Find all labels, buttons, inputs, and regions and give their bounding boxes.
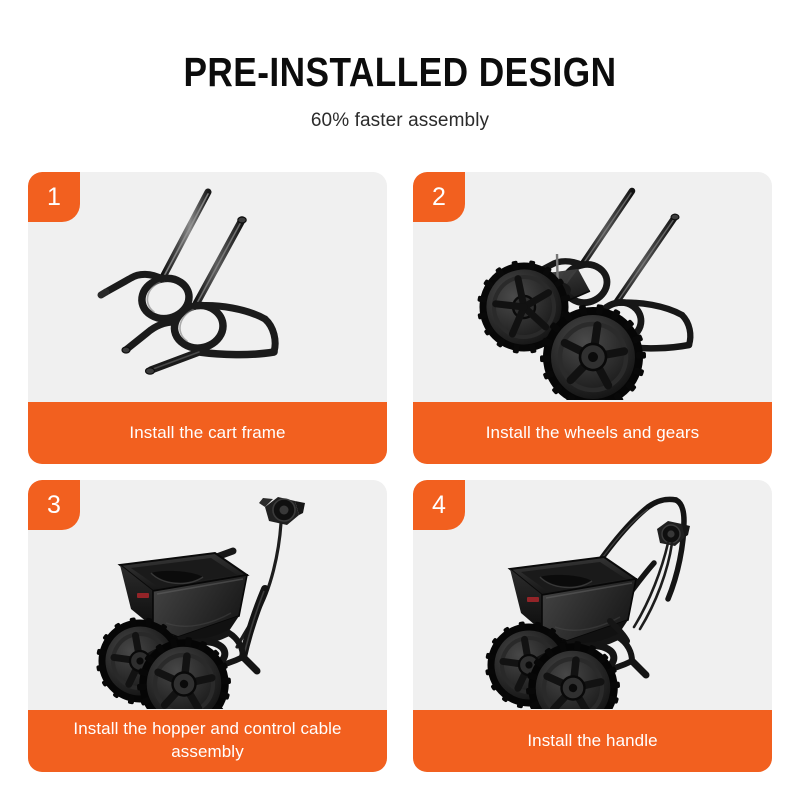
step-number-badge-1: 1 (28, 172, 80, 222)
page-subtitle: 60% faster assembly (0, 110, 800, 132)
step-caption-3: Install the hopper and control cable ass… (28, 710, 387, 772)
complete-spreader-illustration (413, 480, 772, 710)
step-card-1[interactable]: 1 (28, 172, 387, 464)
step-number-badge-2: 2 (413, 172, 465, 222)
steps-grid: 1 (28, 172, 772, 772)
hopper-and-cable-illustration (28, 480, 387, 710)
step-number-badge-3: 3 (28, 480, 80, 530)
step-number-badge-4: 4 (413, 480, 465, 530)
cart-frame-illustration (28, 172, 387, 402)
step-caption-4: Install the handle (413, 710, 772, 772)
wheels-and-gears-illustration (413, 172, 772, 402)
page-title: PRE-INSTALLED DESIGN (56, 52, 744, 93)
instruction-infographic: PRE-INSTALLED DESIGN 60% faster assembly… (0, 0, 800, 800)
step-caption-2: Install the wheels and gears (413, 402, 772, 464)
step-card-2[interactable]: 2 (413, 172, 772, 464)
step-caption-1: Install the cart frame (28, 402, 387, 464)
header: PRE-INSTALLED DESIGN 60% faster assembly (0, 52, 800, 132)
step-card-4[interactable]: 4 (413, 480, 772, 772)
step-card-3[interactable]: 3 (28, 480, 387, 772)
